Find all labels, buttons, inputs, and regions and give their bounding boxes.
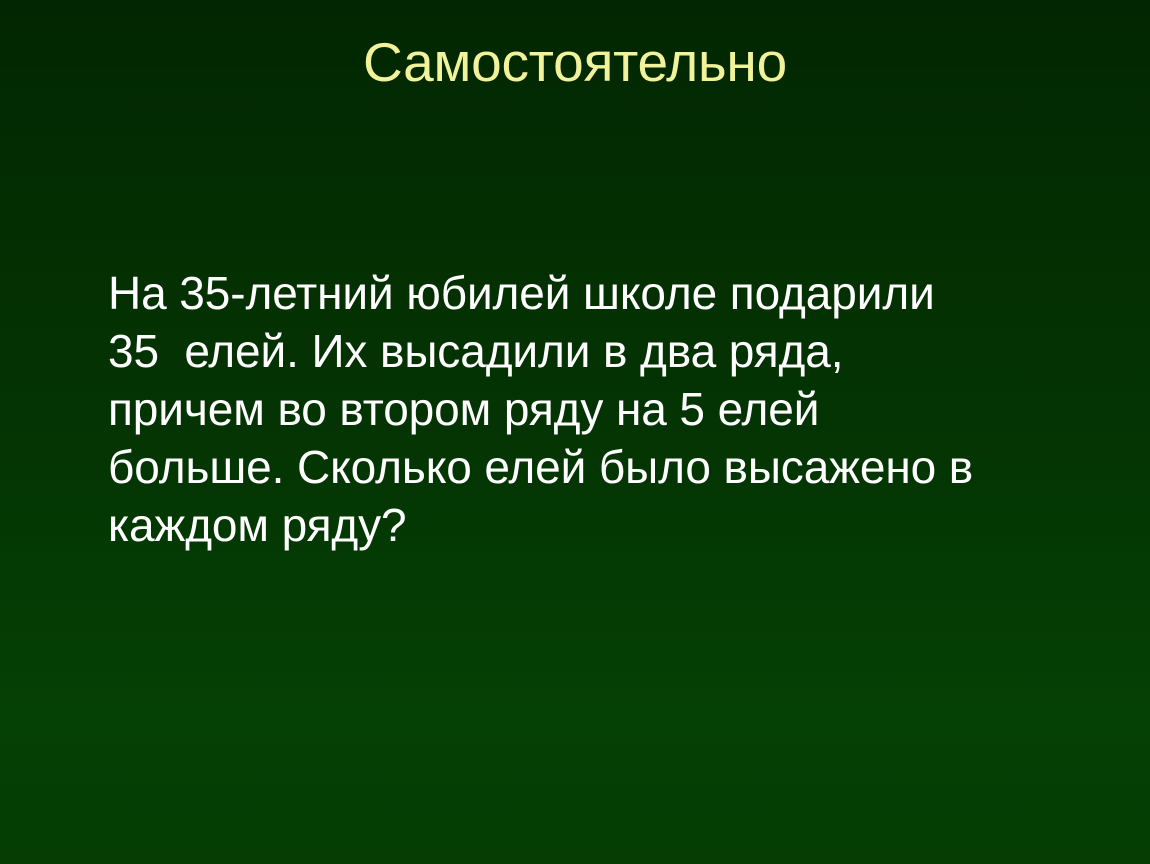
body-line: 35 елей. Их высадили в два ряда, [108, 322, 1098, 380]
slide-title-block: Самостоятельно [0, 30, 1150, 94]
slide-title: Самостоятельно [363, 30, 787, 94]
body-line: больше. Сколько елей было высажено в [108, 438, 1098, 496]
body-line: На 35-летний юбилей школе подарили [108, 264, 1098, 322]
presentation-slide: Самостоятельно На 35-летний юбилей школе… [0, 0, 1150, 864]
slide-body-block: На 35-летний юбилей школе подарили 35 ел… [108, 264, 1098, 554]
body-line: каждом ряду? [108, 496, 1098, 554]
body-line: причем во втором ряду на 5 елей [108, 380, 1098, 438]
